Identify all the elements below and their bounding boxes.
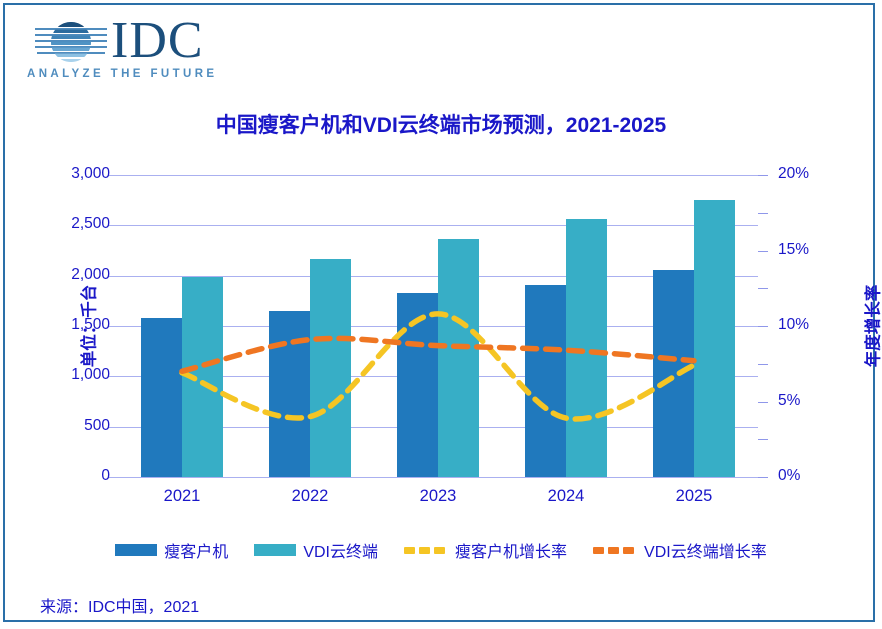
right-tick-label: 20% — [778, 165, 809, 183]
right-tick-label: 0% — [778, 467, 800, 485]
legend: 瘦客户机VDI云终端瘦客户机增长率VDI云终端增长率 — [5, 538, 877, 562]
right-tick-label: 15% — [778, 241, 809, 259]
right-tick — [758, 213, 768, 214]
left-axis-title: 单位：千台 — [75, 285, 99, 368]
right-tick — [758, 251, 768, 252]
left-tick-label: 2,500 — [71, 215, 110, 233]
left-tick-label: 3,000 — [71, 165, 110, 183]
source-note: 来源：IDC中国，2021 — [40, 593, 199, 617]
right-tick — [758, 439, 768, 440]
legend-item-0[interactable]: 瘦客户机 — [115, 538, 228, 562]
right-tick — [758, 326, 768, 327]
left-tick-label: 500 — [84, 417, 110, 435]
right-tick — [758, 364, 768, 365]
right-tick — [758, 477, 768, 478]
right-tick — [758, 402, 768, 403]
legend-item-3[interactable]: VDI云终端增长率 — [593, 538, 767, 562]
logo-wordmark: IDC — [111, 12, 204, 70]
left-tick-label: 2,000 — [71, 266, 110, 284]
logo-tagline: ANALYZE THE FUTURE — [27, 68, 217, 80]
legend-label: VDI云终端 — [303, 538, 378, 562]
x-tick-label: 2023 — [398, 487, 478, 506]
right-tick-label: 10% — [778, 316, 809, 334]
left-tick-label: 1,000 — [71, 366, 110, 384]
x-tick-label: 2024 — [526, 487, 606, 506]
legend-label: 瘦客户机增长率 — [455, 538, 567, 562]
legend-item-1[interactable]: VDI云终端 — [254, 538, 378, 562]
legend-label: 瘦客户机 — [164, 538, 228, 562]
legend-swatch-dash-icon — [593, 547, 637, 554]
right-axis-title: 年度增长率 — [859, 285, 882, 368]
plot-area: 05001,0001,5002,0002,5003,000 0%5%10%15%… — [118, 175, 758, 477]
x-tick-label: 2025 — [654, 487, 734, 506]
legend-item-2[interactable]: 瘦客户机增长率 — [404, 538, 567, 562]
growth-line-thin-client — [182, 314, 694, 419]
growth-lines-layer — [118, 175, 758, 477]
x-tick-label: 2021 — [142, 487, 222, 506]
idc-logo: IDC ANALYZE THE FUTURE — [21, 16, 221, 86]
right-tick — [758, 288, 768, 289]
x-tick-label: 2022 — [270, 487, 350, 506]
legend-swatch-bar-icon — [254, 544, 296, 556]
legend-swatch-dash-icon — [404, 547, 448, 554]
idc-globe-icon — [35, 20, 107, 64]
gridline — [118, 477, 758, 478]
chart-frame: IDC ANALYZE THE FUTURE 中国瘦客户机和VDI云终端市场预测… — [3, 3, 875, 622]
right-tick-label: 5% — [778, 392, 800, 410]
legend-label: VDI云终端增长率 — [644, 538, 767, 562]
legend-swatch-bar-icon — [115, 544, 157, 556]
right-tick — [758, 175, 768, 176]
left-tick-label: 0 — [101, 467, 110, 485]
growth-line-vdi — [182, 338, 694, 371]
page-title: 中国瘦客户机和VDI云终端市场预测，2021-2025 — [5, 109, 877, 139]
